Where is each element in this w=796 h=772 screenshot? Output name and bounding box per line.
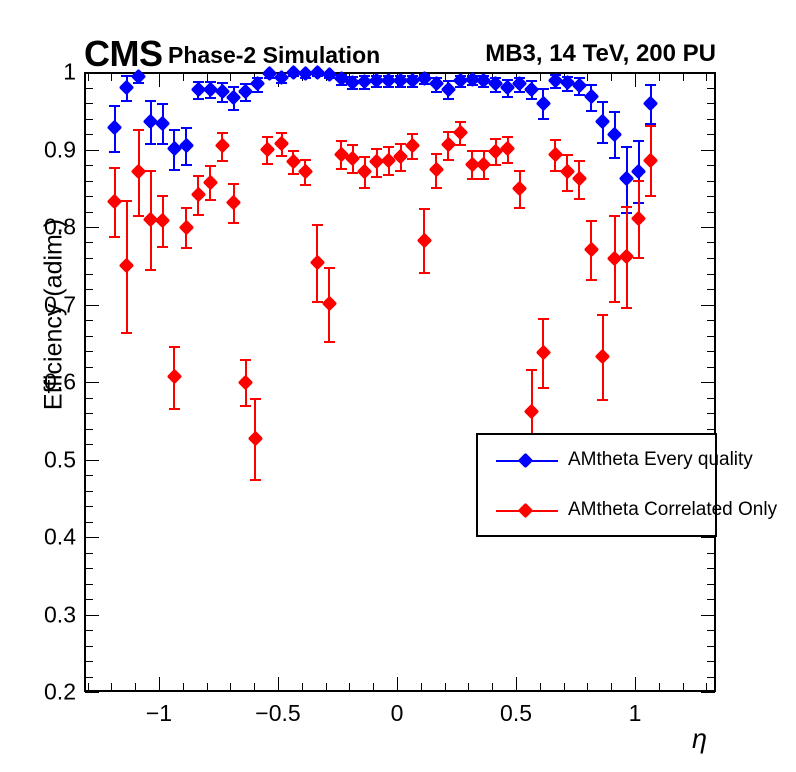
y-tick — [85, 677, 93, 678]
error-bar-cap — [240, 100, 251, 102]
y-tick — [85, 630, 93, 631]
x-tick — [445, 683, 446, 691]
error-bar-cap — [347, 144, 358, 146]
x-tick — [587, 683, 588, 691]
error-bar-cap — [121, 332, 132, 334]
error-bar-cap — [228, 86, 239, 88]
error-bar-cap — [562, 90, 573, 92]
error-bar-cap — [586, 110, 597, 112]
error-bar-cap — [538, 118, 549, 120]
y-tick-label: 0.2 — [44, 679, 76, 706]
x-tick — [611, 683, 612, 691]
x-tick — [706, 73, 707, 81]
error-bar-cap — [157, 143, 168, 145]
error-bar-cap — [419, 208, 430, 210]
legend-marker-red — [518, 503, 534, 519]
y-tick — [707, 413, 715, 414]
error-bar-cap — [502, 162, 513, 164]
error-bar-cap — [514, 91, 525, 93]
y-tick — [707, 336, 715, 337]
y-tick — [707, 258, 715, 259]
y-tick — [701, 692, 715, 693]
error-bar-cap — [121, 100, 132, 102]
error-bar-cap — [109, 236, 120, 238]
x-tick — [88, 73, 89, 81]
y-tick — [85, 336, 93, 337]
y-tick — [85, 227, 99, 228]
error-bar-cap — [193, 214, 204, 216]
y-tick — [85, 103, 93, 104]
y-tick — [707, 181, 715, 182]
cms-logo-label: CMS — [84, 36, 163, 72]
error-bar-cap — [574, 94, 585, 96]
error-bar-cap — [633, 140, 644, 142]
y-tick — [707, 165, 715, 166]
y-tick — [85, 289, 93, 290]
error-bar-cap — [181, 247, 192, 249]
error-bar-cap — [383, 146, 394, 148]
error-bar-cap — [490, 91, 501, 93]
error-bar-cap — [324, 267, 335, 269]
error-bar-cap — [145, 170, 156, 172]
error-bar-cap — [250, 398, 261, 400]
error-bar-cap — [645, 84, 656, 86]
y-tick-label: 0.3 — [44, 601, 76, 628]
y-tick — [707, 661, 715, 662]
x-tick — [564, 683, 565, 691]
error-bar-cap — [395, 170, 406, 172]
y-tick — [707, 630, 715, 631]
error-bar-cap — [252, 91, 263, 93]
x-tick — [706, 683, 707, 691]
error-bar-cap — [502, 96, 513, 98]
error-bar-cap — [359, 156, 370, 158]
y-tick — [701, 382, 715, 383]
error-bar-cap — [240, 405, 251, 407]
error-bar-cap — [276, 132, 287, 134]
y-tick-label: 0.7 — [44, 291, 76, 318]
error-bar-cap — [538, 88, 549, 90]
error-bar-cap — [514, 170, 525, 172]
y-tick — [707, 119, 715, 120]
error-bar-cap — [169, 346, 180, 348]
error-bar-cap — [597, 314, 608, 316]
x-tick — [540, 73, 541, 81]
y-tick — [85, 72, 99, 73]
x-tick — [659, 73, 660, 81]
x-tick — [492, 683, 493, 691]
y-tick — [85, 119, 93, 120]
legend-box: AMtheta Every quality AMtheta Correlated… — [476, 433, 717, 537]
x-tick — [468, 683, 469, 691]
legend-entry-correlated-only: AMtheta Correlated Only — [478, 489, 715, 533]
y-tick — [85, 584, 93, 585]
error-bar-cap — [336, 140, 347, 142]
x-tick — [540, 683, 541, 691]
error-bar-cap — [609, 301, 620, 303]
error-bar-cap — [300, 184, 311, 186]
y-tick — [85, 212, 93, 213]
error-bar-cap — [371, 148, 382, 150]
x-tick — [611, 73, 612, 81]
y-tick — [85, 429, 93, 430]
y-tick — [85, 305, 99, 306]
y-tick-label: 0.4 — [44, 524, 76, 551]
x-tick — [230, 683, 231, 691]
x-tick — [373, 683, 374, 691]
y-tick — [701, 227, 715, 228]
error-bar-cap — [538, 387, 549, 389]
error-bar-cap — [181, 164, 192, 166]
x-tick — [659, 683, 660, 691]
error-bar-cap — [526, 98, 537, 100]
error-bar-cap — [228, 109, 239, 111]
error-bar-cap — [586, 84, 597, 86]
y-tick — [707, 584, 715, 585]
y-tick — [85, 382, 99, 383]
y-tick — [707, 196, 715, 197]
error-bar-cap — [407, 158, 418, 160]
y-tick — [707, 677, 715, 678]
x-tick — [397, 677, 398, 691]
y-tick — [85, 460, 99, 461]
y-tick — [707, 429, 715, 430]
x-tick — [207, 73, 208, 81]
y-tick — [85, 692, 99, 693]
error-bar-cap — [133, 129, 144, 131]
y-tick — [701, 72, 715, 73]
y-tick — [85, 320, 93, 321]
y-tick — [701, 150, 715, 151]
y-tick-label: 0.5 — [44, 446, 76, 473]
error-bar-cap — [250, 479, 261, 481]
y-tick — [85, 367, 93, 368]
legend-label-correlated-only: AMtheta Correlated Only — [568, 499, 777, 521]
error-bar-cap — [205, 97, 216, 99]
error-bar-cap — [597, 101, 608, 103]
x-tick — [516, 677, 517, 691]
error-bar-cap — [633, 180, 644, 182]
y-tick — [85, 413, 93, 414]
error-bar-cap — [371, 176, 382, 178]
x-axis-title: η — [692, 724, 707, 755]
error-bar-cap — [502, 136, 513, 138]
y-tick — [707, 351, 715, 352]
y-tick — [707, 599, 715, 600]
x-tick — [326, 683, 327, 691]
error-bar-cap — [205, 165, 216, 167]
x-tick — [587, 73, 588, 81]
y-tick — [85, 615, 99, 616]
y-tick — [707, 88, 715, 89]
error-bar-cap — [121, 200, 132, 202]
x-tick — [183, 73, 184, 81]
error-bar-cap — [609, 157, 620, 159]
error-bar-cap — [217, 160, 228, 162]
y-tick — [707, 242, 715, 243]
x-tick-label: −1 — [146, 700, 172, 727]
error-bar-cap — [455, 144, 466, 146]
error-bar-cap — [145, 269, 156, 271]
error-bar-cap — [262, 163, 273, 165]
y-tick — [85, 88, 93, 89]
error-bar-cap — [109, 105, 120, 107]
y-tick — [85, 165, 93, 166]
y-tick — [85, 134, 93, 135]
error-bar-cap — [621, 146, 632, 148]
error-bar-cap — [609, 215, 620, 217]
error-bar-cap — [562, 190, 573, 192]
x-tick — [421, 683, 422, 691]
y-tick — [707, 398, 715, 399]
error-bar-cap — [383, 174, 394, 176]
error-bar-cap — [538, 318, 549, 320]
error-bar-cap — [169, 129, 180, 131]
error-bar-cap — [609, 111, 620, 113]
error-bar-cap — [193, 175, 204, 177]
error-bar-cap — [181, 127, 192, 129]
y-tick — [85, 351, 93, 352]
y-tick — [85, 398, 93, 399]
error-bar-cap — [514, 207, 525, 209]
error-bar-cap — [324, 341, 335, 343]
x-tick — [230, 73, 231, 81]
error-bar-cap — [300, 159, 311, 161]
error-bar-cap — [431, 187, 442, 189]
x-tick — [635, 73, 636, 87]
error-bar-cap — [443, 159, 454, 161]
x-tick — [111, 73, 112, 81]
y-tick — [701, 537, 715, 538]
legend-marker-blue — [518, 453, 534, 469]
error-bar-cap — [562, 154, 573, 156]
error-bar-cap — [169, 169, 180, 171]
y-tick — [85, 522, 93, 523]
y-tick — [707, 289, 715, 290]
x-tick-label: 0.5 — [500, 700, 532, 727]
y-tick — [707, 274, 715, 275]
error-bar-cap — [262, 136, 273, 138]
y-tick — [85, 646, 93, 647]
plot-canvas: CMS Phase-2 Simulation MB3, 14 TeV, 200 … — [0, 0, 796, 772]
error-bar-cap — [419, 272, 430, 274]
error-bar-cap — [288, 150, 299, 152]
x-tick — [159, 677, 160, 691]
error-bar-cap — [312, 224, 323, 226]
x-tick — [207, 683, 208, 691]
dataset-conditions-label: MB3, 14 TeV, 200 PU — [485, 42, 716, 66]
error-bar-cap — [490, 138, 501, 140]
error-bar-cap — [621, 307, 632, 309]
error-bar-cap — [157, 246, 168, 248]
error-bar-cap — [490, 164, 501, 166]
y-tick-label: 0.9 — [44, 136, 76, 163]
y-tick — [85, 553, 93, 554]
error-bar-cap — [157, 103, 168, 105]
error-bar-cap — [550, 139, 561, 141]
error-bar-cap — [217, 101, 228, 103]
error-bar-cap — [526, 369, 537, 371]
error-bar-cap — [633, 257, 644, 259]
y-tick — [85, 242, 93, 243]
y-tick — [701, 615, 715, 616]
error-bar-cap — [621, 206, 632, 208]
y-tick — [707, 134, 715, 135]
x-tick — [88, 683, 89, 691]
y-tick — [707, 553, 715, 554]
x-tick — [135, 683, 136, 691]
y-tick — [85, 537, 99, 538]
error-bar-cap — [407, 133, 418, 135]
error-bar-cap — [586, 279, 597, 281]
y-tick — [85, 491, 93, 492]
error-bar-cap — [181, 207, 192, 209]
error-bar-cap — [574, 198, 585, 200]
x-tick-label: 1 — [629, 700, 642, 727]
y-tick — [85, 196, 93, 197]
error-bar-cap — [145, 100, 156, 102]
x-tick — [302, 683, 303, 691]
x-tick — [183, 683, 184, 691]
error-bar-cap — [467, 178, 478, 180]
y-tick — [85, 599, 93, 600]
error-bar-cap — [597, 399, 608, 401]
cms-subtitle-label: Phase-2 Simulation — [168, 44, 380, 67]
error-bar-cap — [443, 98, 454, 100]
error-bar-cap — [169, 408, 180, 410]
error-bar-cap — [228, 222, 239, 224]
error-bar-cap — [288, 173, 299, 175]
x-tick — [159, 73, 160, 87]
y-tick — [707, 103, 715, 104]
error-bar-cap — [109, 167, 120, 169]
y-tick — [707, 320, 715, 321]
error-bar-cap — [467, 150, 478, 152]
x-tick — [683, 73, 684, 81]
y-tick — [85, 150, 99, 151]
y-tick — [701, 305, 715, 306]
error-bar-cap — [597, 142, 608, 144]
x-tick-label: 0 — [391, 700, 404, 727]
y-tick — [707, 568, 715, 569]
y-tick-label: 0.6 — [44, 369, 76, 396]
error-bar-cap — [574, 160, 585, 162]
y-tick — [85, 661, 93, 662]
error-bar-cap — [478, 178, 489, 180]
y-tick — [85, 444, 93, 445]
error-bar-cap — [145, 143, 156, 145]
error-bar-cap — [157, 195, 168, 197]
error-bar-cap — [431, 153, 442, 155]
error-bar-cap — [240, 359, 251, 361]
x-tick — [349, 683, 350, 691]
y-tick — [85, 475, 93, 476]
x-tick — [254, 683, 255, 691]
x-tick — [111, 683, 112, 691]
y-tick — [707, 212, 715, 213]
error-bar-cap — [645, 125, 656, 127]
error-bar-cap — [336, 168, 347, 170]
x-tick — [635, 677, 636, 691]
error-bar-cap — [276, 155, 287, 157]
error-bar-cap — [217, 132, 228, 134]
x-tick — [278, 677, 279, 691]
error-bar-cap — [205, 199, 216, 201]
y-tick — [707, 646, 715, 647]
error-bar-cap — [109, 151, 120, 153]
legend-entry-every-quality: AMtheta Every quality — [478, 439, 715, 483]
x-tick-label: −0.5 — [255, 700, 300, 727]
y-tick — [707, 367, 715, 368]
error-bar-cap — [193, 98, 204, 100]
error-bar-cap — [586, 220, 597, 222]
legend-label-every-quality: AMtheta Every quality — [568, 449, 753, 471]
x-tick — [683, 683, 684, 691]
error-bar-cap — [133, 215, 144, 217]
y-tick — [85, 274, 93, 275]
error-bar-cap — [359, 187, 370, 189]
y-tick — [85, 568, 93, 569]
y-tick — [85, 258, 93, 259]
error-bar-cap — [645, 195, 656, 197]
y-tick — [85, 181, 93, 182]
error-bar-cap — [455, 121, 466, 123]
y-tick-label: 0.8 — [44, 214, 76, 241]
error-bar-cap — [228, 183, 239, 185]
y-tick-label: 1 — [63, 59, 76, 86]
y-tick — [85, 506, 93, 507]
